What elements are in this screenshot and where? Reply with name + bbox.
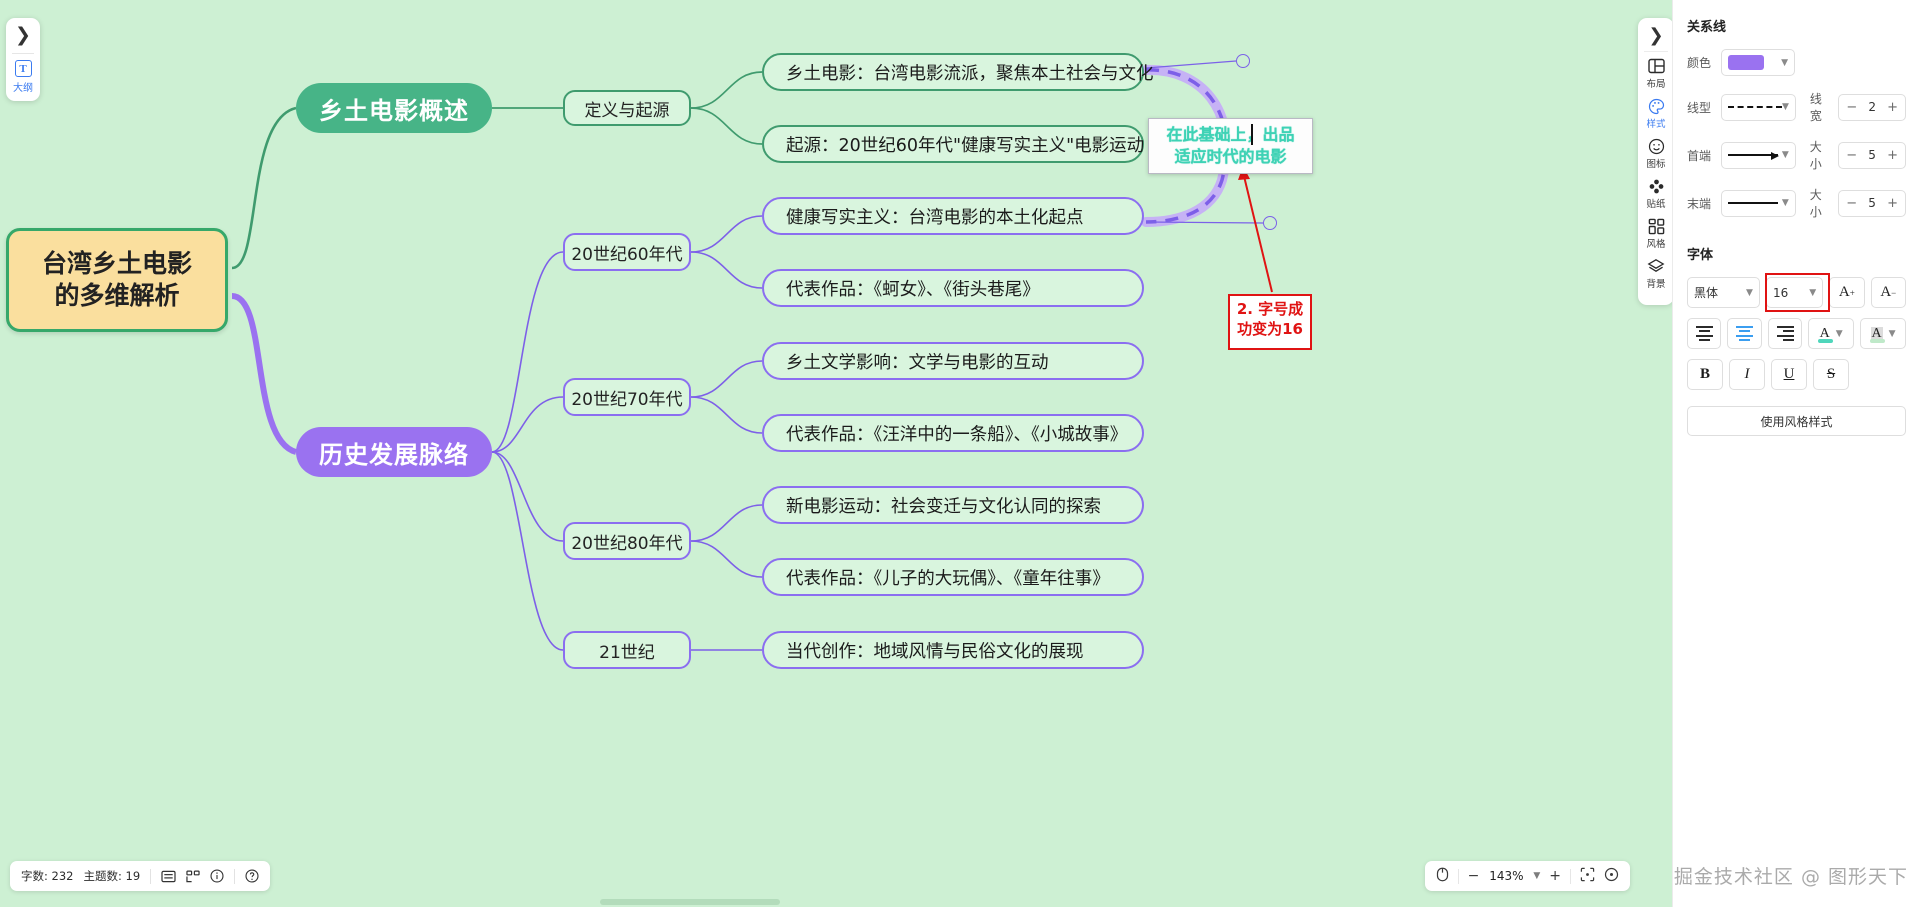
left-toolbar: ❯ T 大纲 bbox=[6, 18, 40, 101]
structure-icon[interactable] bbox=[186, 870, 200, 883]
rail-item-sticker[interactable]: 贴纸 bbox=[1638, 177, 1674, 210]
chevron-right-icon[interactable]: ❯ bbox=[6, 24, 40, 48]
divider bbox=[150, 869, 151, 884]
relation-linetype-select[interactable]: ▼ bbox=[1721, 94, 1796, 121]
zoom-out-button[interactable]: − bbox=[1468, 868, 1480, 884]
relation-color-picker[interactable]: ▼ bbox=[1721, 49, 1795, 76]
arrow-line-icon bbox=[1728, 154, 1778, 156]
underline-button[interactable]: U bbox=[1771, 359, 1807, 390]
leaf-label: 乡土电影：台湾电影流派，聚焦本土社会与文化 bbox=[786, 60, 1154, 85]
leaf-label: 当代创作：地域风情与民俗文化的展现 bbox=[786, 638, 1084, 663]
italic-glyph: I bbox=[1745, 366, 1750, 383]
rail-label: 样式 bbox=[1646, 116, 1665, 130]
chevron-down-icon: ▼ bbox=[1809, 288, 1816, 298]
rail-item-theme[interactable]: 风格 bbox=[1638, 217, 1674, 250]
relation-tail-size-label: 大小 bbox=[1810, 186, 1831, 220]
text-caret bbox=[1251, 124, 1253, 145]
chevron-down-icon: ▼ bbox=[1781, 58, 1788, 68]
highlight-color-button[interactable]: A ▼ bbox=[1860, 318, 1906, 349]
relation-linetype-label: 线型 bbox=[1687, 99, 1721, 116]
relation-line-section-title: 关系线 bbox=[1687, 16, 1906, 35]
subtopic-label: 20世纪60年代 bbox=[571, 240, 682, 265]
font-family-value: 黑体 bbox=[1694, 284, 1718, 301]
relation-head-row: 首端 ▼ 大小 − 5 + bbox=[1687, 138, 1906, 172]
decrease-font-sup: − bbox=[1891, 288, 1896, 298]
subtopic-node-1960s[interactable]: 20世纪60年代 bbox=[563, 233, 691, 271]
increase-font-size-button[interactable]: A+ bbox=[1829, 277, 1864, 308]
branch-label: 乡土电影概述 bbox=[319, 91, 469, 126]
zoom-in-button[interactable]: + bbox=[1549, 868, 1561, 884]
outline-label: 大纲 bbox=[13, 79, 33, 94]
text-color-button[interactable]: A ▼ bbox=[1808, 318, 1854, 349]
relation-color-row: 颜色 ▼ bbox=[1687, 49, 1906, 76]
rail-label: 图标 bbox=[1646, 156, 1665, 170]
leaf-label: 代表作品：《儿子的大玩偶》、《童年往事》 bbox=[786, 565, 1110, 590]
mindmap-app: 台湾乡土电影 的多维解析 乡土电影概述 历史发展脉络 定义与起源 20世纪60年… bbox=[0, 0, 1920, 907]
subtopic-node-1980s[interactable]: 20世纪80年代 bbox=[563, 522, 691, 560]
tail-size-value: 5 bbox=[1868, 196, 1876, 210]
info-icon[interactable] bbox=[210, 869, 224, 883]
font-controls-row: 黑体 ▼ 16 ▼ A+ A− bbox=[1687, 277, 1906, 308]
chevron-down-icon: ▼ bbox=[1889, 329, 1896, 339]
bold-glyph: B bbox=[1700, 366, 1710, 383]
subtopic-label: 20世纪80年代 bbox=[571, 529, 682, 554]
align-center-button[interactable] bbox=[1727, 318, 1761, 349]
relation-head-size-stepper[interactable]: − 5 + bbox=[1838, 142, 1906, 169]
subtopic-node-definition[interactable]: 定义与起源 bbox=[563, 90, 691, 126]
text-color-swatch bbox=[1818, 339, 1833, 343]
strike-glyph: S bbox=[1827, 366, 1835, 383]
underline-glyph: U bbox=[1784, 366, 1795, 383]
help-icon[interactable] bbox=[245, 869, 259, 883]
leaf-node[interactable]: 代表作品：《蚵女》、《街头巷尾》 bbox=[762, 269, 1144, 307]
rail-item-style[interactable]: 样式 bbox=[1638, 97, 1674, 130]
outline-button[interactable]: T 大纲 bbox=[13, 60, 33, 94]
leaf-label: 健康写实主义：台湾电影的本土化起点 bbox=[786, 204, 1084, 229]
chevron-down-icon: ▼ bbox=[1782, 102, 1789, 112]
leaf-node[interactable]: 乡土文学影响：文学与电影的互动 bbox=[762, 342, 1144, 380]
branch-node-history[interactable]: 历史发展脉络 bbox=[296, 427, 492, 477]
divider bbox=[1458, 869, 1459, 884]
increase-font-glyph: A bbox=[1839, 284, 1850, 301]
annotation-2: 2. 字号成功变为16 bbox=[1228, 294, 1312, 350]
leaf-node[interactable]: 起源：20世纪60年代"健康写实主义"电影运动 bbox=[762, 125, 1144, 163]
card-view-icon[interactable] bbox=[161, 870, 176, 883]
root-node[interactable]: 台湾乡土电影 的多维解析 bbox=[6, 228, 228, 332]
chevron-down-icon: ▼ bbox=[1836, 329, 1843, 339]
leaf-label: 起源：20世纪60年代"健康写实主义"电影运动 bbox=[786, 132, 1144, 157]
divider bbox=[12, 53, 34, 54]
leaf-node[interactable]: 代表作品：《儿子的大玩偶》、《童年往事》 bbox=[762, 558, 1144, 596]
style-panel: 关系线 颜色 ▼ 线型 ▼ 线宽 − 2 + 首端 bbox=[1672, 0, 1920, 907]
branch-node-overview[interactable]: 乡土电影概述 bbox=[296, 83, 492, 133]
leaf-label: 代表作品：《蚵女》、《街头巷尾》 bbox=[786, 276, 1040, 301]
rail-label: 背景 bbox=[1646, 276, 1665, 290]
font-size-value: 16 bbox=[1773, 286, 1788, 300]
subtopic-node-21century[interactable]: 21世纪 bbox=[563, 631, 691, 669]
increment-button[interactable]: + bbox=[1887, 100, 1898, 115]
increment-button[interactable]: + bbox=[1887, 148, 1898, 163]
word-count: 字数: 232 bbox=[21, 868, 73, 884]
layers-icon bbox=[1647, 257, 1665, 275]
branch-label: 历史发展脉络 bbox=[319, 435, 469, 470]
font-section-title: 字体 bbox=[1687, 244, 1906, 263]
layout-icon bbox=[1648, 57, 1665, 75]
mouse-icon[interactable] bbox=[1436, 867, 1449, 886]
align-left-button[interactable] bbox=[1687, 318, 1721, 349]
status-bar-right: − 143% ▼ + bbox=[1425, 861, 1630, 891]
leaf-node[interactable]: 当代创作：地域风情与民俗文化的展现 bbox=[762, 631, 1144, 669]
relation-label-text: 在此基础上，出品 适应时代的电影 bbox=[1166, 124, 1294, 167]
linewidth-value: 2 bbox=[1868, 100, 1876, 114]
relation-tail-size-stepper[interactable]: − 5 + bbox=[1838, 190, 1906, 217]
relation-head-size-label: 大小 bbox=[1810, 138, 1831, 172]
relation-handle-end[interactable] bbox=[1263, 216, 1277, 230]
relation-tail-label: 末端 bbox=[1687, 195, 1721, 212]
leaf-node[interactable]: 健康写实主义：台湾电影的本土化起点 bbox=[762, 197, 1144, 235]
font-size-select[interactable]: 16 ▼ bbox=[1766, 277, 1823, 308]
smiley-icon bbox=[1648, 137, 1665, 155]
leaf-label: 代表作品：《汪洋中的一条船》、《小城故事》 bbox=[786, 421, 1127, 446]
italic-button[interactable]: I bbox=[1729, 359, 1765, 390]
subtopic-label: 21世纪 bbox=[599, 638, 655, 663]
zoom-level-value: 143% bbox=[1488, 869, 1524, 883]
dashed-line-icon bbox=[1728, 106, 1782, 108]
head-size-value: 5 bbox=[1868, 148, 1876, 162]
mindmap-canvas[interactable]: 台湾乡土电影 的多维解析 乡土电影概述 历史发展脉络 定义与起源 20世纪60年… bbox=[0, 0, 1672, 907]
increase-font-sup: + bbox=[1850, 288, 1855, 298]
highlight-color-swatch bbox=[1870, 339, 1885, 343]
relation-tail-select[interactable]: ▼ bbox=[1721, 190, 1796, 217]
horizontal-scrollbar[interactable] bbox=[600, 899, 780, 905]
chevron-right-icon[interactable]: ❯ bbox=[1648, 23, 1663, 47]
palette-icon bbox=[1648, 97, 1665, 115]
rail-item-layout[interactable]: 布局 bbox=[1638, 57, 1674, 90]
status-bar-left: 字数: 232 主题数: 19 bbox=[10, 861, 270, 891]
relation-head-label: 首端 bbox=[1687, 147, 1721, 164]
bold-button[interactable]: B bbox=[1687, 359, 1723, 390]
chevron-down-icon[interactable]: ▼ bbox=[1533, 871, 1540, 881]
grid-squares-icon bbox=[1648, 217, 1665, 235]
decrease-font-glyph: A bbox=[1880, 284, 1891, 301]
center-target-icon[interactable] bbox=[1604, 867, 1619, 886]
increment-button[interactable]: + bbox=[1887, 196, 1898, 211]
relation-head-select[interactable]: ▼ bbox=[1721, 142, 1796, 169]
rail-label: 布局 bbox=[1646, 76, 1665, 90]
decrement-button[interactable]: − bbox=[1846, 148, 1857, 163]
color-swatch bbox=[1728, 55, 1764, 70]
right-icon-rail: ❯ 布局 样式 bbox=[1638, 18, 1674, 305]
relation-handle-start[interactable] bbox=[1236, 54, 1250, 68]
relation-linetype-row: 线型 ▼ 线宽 − 2 + bbox=[1687, 90, 1906, 124]
leaf-node[interactable]: 新电影运动：社会变迁与文化认同的探索 bbox=[762, 486, 1144, 524]
leaf-label: 乡土文学影响：文学与电影的互动 bbox=[786, 349, 1049, 374]
decrement-button[interactable]: − bbox=[1846, 100, 1857, 115]
relation-tail-row: 末端 ▼ 大小 − 5 + bbox=[1687, 186, 1906, 220]
plain-line-icon bbox=[1728, 202, 1778, 204]
subtopic-label: 20世纪70年代 bbox=[571, 385, 682, 410]
divider bbox=[1644, 51, 1668, 52]
topic-count: 主题数: 19 bbox=[83, 868, 140, 884]
chevron-down-icon: ▼ bbox=[1746, 288, 1753, 298]
divider bbox=[1570, 869, 1571, 884]
subtopic-label: 定义与起源 bbox=[585, 96, 670, 121]
rail-item-background[interactable]: 背景 bbox=[1638, 257, 1674, 290]
decrement-button[interactable]: − bbox=[1846, 196, 1857, 211]
relation-linewidth-stepper[interactable]: − 2 + bbox=[1838, 94, 1906, 121]
decrease-font-size-button[interactable]: A− bbox=[1871, 277, 1906, 308]
apply-style-button[interactable]: 使用风格样式 bbox=[1687, 406, 1906, 436]
font-family-select[interactable]: 黑体 ▼ bbox=[1687, 277, 1760, 308]
root-node-line2: 的多维解析 bbox=[54, 280, 179, 312]
text-align-row: A ▼ A ▼ bbox=[1687, 318, 1906, 349]
chevron-down-icon: ▼ bbox=[1782, 198, 1789, 208]
text-style-row: B I U S bbox=[1687, 359, 1906, 390]
rail-label: 风格 bbox=[1646, 236, 1665, 250]
relation-label-editor[interactable]: 在此基础上，出品 适应时代的电影 bbox=[1148, 118, 1313, 174]
root-node-line1: 台湾乡土电影 bbox=[42, 248, 192, 280]
strikethrough-button[interactable]: S bbox=[1813, 359, 1849, 390]
subtopic-node-1970s[interactable]: 20世纪70年代 bbox=[563, 378, 691, 416]
leaf-node[interactable]: 代表作品：《汪洋中的一条船》、《小城故事》 bbox=[762, 414, 1144, 452]
relation-color-label: 颜色 bbox=[1687, 54, 1721, 71]
divider bbox=[234, 869, 235, 884]
text-t-icon: T bbox=[15, 60, 32, 77]
leaf-node[interactable]: 乡土电影：台湾电影流派，聚焦本土社会与文化 bbox=[762, 53, 1144, 91]
sticker-flower-icon bbox=[1648, 177, 1665, 195]
align-right-button[interactable] bbox=[1768, 318, 1802, 349]
rail-label: 贴纸 bbox=[1646, 196, 1665, 210]
leaf-label: 新电影运动：社会变迁与文化认同的探索 bbox=[786, 493, 1101, 518]
relation-linewidth-label: 线宽 bbox=[1810, 90, 1831, 124]
fit-screen-icon[interactable] bbox=[1580, 867, 1595, 886]
rail-item-icon[interactable]: 图标 bbox=[1638, 137, 1674, 170]
chevron-down-icon: ▼ bbox=[1782, 150, 1789, 160]
